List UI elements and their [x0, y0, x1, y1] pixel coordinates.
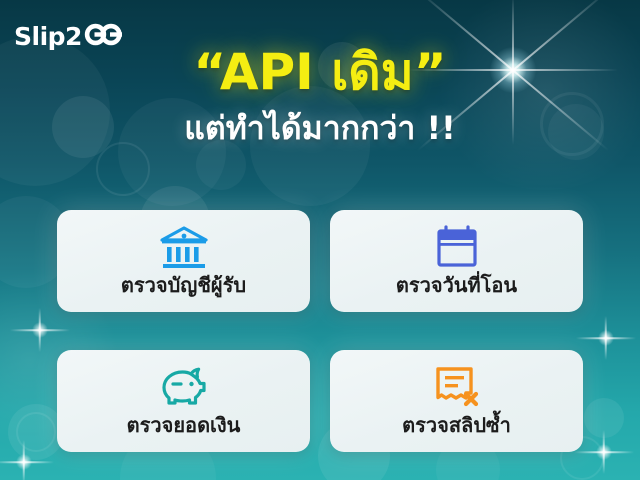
bokeh-ring: [16, 412, 56, 452]
bank-icon: [158, 223, 210, 271]
headline-subtitle: แต่ทำได้มากกว่า !!: [0, 111, 640, 146]
headline-block: “API เดิม” แต่ทำได้มากกว่า !!: [0, 46, 640, 146]
calendar-icon: [434, 223, 480, 271]
feature-card-label: ตรวจวันที่โอน: [396, 274, 517, 297]
bokeh-circle: [196, 140, 246, 190]
feature-card-balance[interactable]: ตรวจยอดเงิน: [57, 350, 310, 452]
feature-card-bank[interactable]: ตรวจบัญชีผู้รับ: [57, 210, 310, 312]
promo-banner: Slip2 “API เดิม” แต่ทำได้มากกว่า !!: [0, 0, 640, 480]
brand-logo[interactable]: Slip2: [14, 22, 125, 51]
feature-card-label: ตรวจยอดเงิน: [127, 414, 241, 437]
brand-logo-text: Slip2: [14, 24, 82, 49]
bokeh-circle: [8, 404, 64, 460]
headline-title: “API เดิม”: [193, 46, 446, 99]
piggy-bank-icon: [158, 363, 210, 411]
feature-card-label: ตรวจสลิปซ้ำ: [402, 414, 511, 437]
feature-card-grid: ตรวจบัญชีผู้รับ ตรวจวันที่โอน: [57, 210, 583, 452]
go-infinity-icon: [83, 22, 125, 51]
bokeh-ring: [96, 142, 150, 196]
feature-card-duplicate-slip[interactable]: ตรวจสลิปซ้ำ: [330, 350, 583, 452]
receipt-duplicate-icon: [433, 363, 481, 411]
feature-card-label: ตรวจบัญชีผู้รับ: [121, 274, 246, 297]
bokeh-circle: [584, 398, 624, 438]
feature-card-transfer-date[interactable]: ตรวจวันที่โอน: [330, 210, 583, 312]
